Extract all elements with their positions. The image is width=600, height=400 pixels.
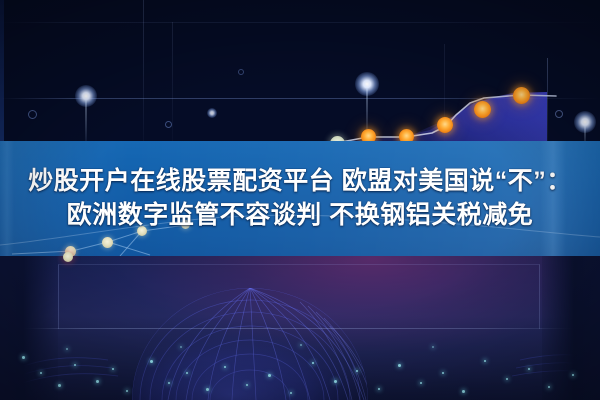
vignette-overlay bbox=[0, 0, 600, 400]
screenshot-canvas: 炒股开户在线股票配资平台 欧盟对美国说“不”： 欧洲数字监管不容谈判 不换钢铝关… bbox=[0, 0, 600, 400]
